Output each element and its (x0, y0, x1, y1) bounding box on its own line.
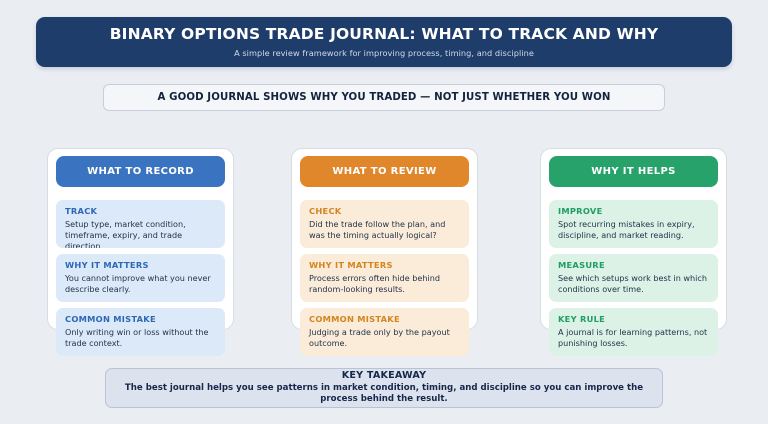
content-block-2-0: IMPROVE Spot recurring mistakes in expir… (549, 200, 718, 248)
columns-region: WHAT TO RECORD TRACK Setup type, market … (0, 148, 768, 348)
page-subtitle: A simple review framework for improving … (234, 48, 534, 58)
subheading-text: A GOOD JOURNAL SHOWS WHY YOU TRADED — NO… (157, 92, 610, 103)
content-block-1-0: CHECK Did the trade follow the plan, and… (300, 200, 469, 248)
block-label-1-2: COMMON MISTAKE (309, 315, 460, 324)
key-takeaway-text: The best journal helps you see patterns … (116, 383, 652, 405)
content-block-2-2: KEY RULE A journal is for learning patte… (549, 308, 718, 356)
infographic-root: BINARY OPTIONS TRADE JOURNAL: WHAT TO TR… (0, 0, 768, 424)
block-text-0-1: You cannot improve what you never descri… (65, 273, 216, 295)
content-block-1-1: WHY IT MATTERS Process errors often hide… (300, 254, 469, 302)
key-takeaway-title: KEY TAKEAWAY (342, 371, 426, 382)
content-block-0-1: WHY IT MATTERS You cannot improve what y… (56, 254, 225, 302)
column-heading-label-1: WHAT TO REVIEW (332, 166, 436, 177)
subheading-bar: A GOOD JOURNAL SHOWS WHY YOU TRADED — NO… (103, 84, 665, 111)
block-label-0-1: WHY IT MATTERS (65, 261, 216, 270)
block-text-1-0: Did the trade follow the plan, and was t… (309, 219, 460, 241)
column-why-it-helps: WHY IT HELPS IMPROVE Spot recurring mist… (540, 148, 727, 356)
page-title: BINARY OPTIONS TRADE JOURNAL: WHAT TO TR… (110, 26, 659, 43)
block-label-0-0: TRACK (65, 207, 216, 216)
column-heading-label-0: WHAT TO RECORD (87, 166, 194, 177)
block-label-1-1: WHY IT MATTERS (309, 261, 460, 270)
block-text-0-2: Only writing win or loss without the tra… (65, 327, 216, 349)
block-text-2-1: See which setups work best in which cond… (558, 273, 709, 295)
column-heading-pill-2: WHY IT HELPS (549, 156, 718, 187)
header-banner: BINARY OPTIONS TRADE JOURNAL: WHAT TO TR… (36, 17, 732, 67)
column-heading-label-2: WHY IT HELPS (591, 166, 675, 177)
content-block-0-0: TRACK Setup type, market condition, time… (56, 200, 225, 248)
block-label-1-0: CHECK (309, 207, 460, 216)
block-text-2-0: Spot recurring mistakes in expiry, disci… (558, 219, 709, 241)
block-label-2-0: IMPROVE (558, 207, 709, 216)
key-takeaway-box: KEY TAKEAWAY The best journal helps you … (105, 368, 663, 408)
content-block-2-1: MEASURE See which setups work best in wh… (549, 254, 718, 302)
block-label-0-2: COMMON MISTAKE (65, 315, 216, 324)
block-text-2-2: A journal is for learning patterns, not … (558, 327, 709, 349)
column-heading-pill-0: WHAT TO RECORD (56, 156, 225, 187)
content-block-0-2: COMMON MISTAKE Only writing win or loss … (56, 308, 225, 356)
column-what-to-record: WHAT TO RECORD TRACK Setup type, market … (47, 148, 234, 356)
block-label-2-2: KEY RULE (558, 315, 709, 324)
block-text-1-1: Process errors often hide behind random-… (309, 273, 460, 295)
column-heading-pill-1: WHAT TO REVIEW (300, 156, 469, 187)
content-block-1-2: COMMON MISTAKE Judging a trade only by t… (300, 308, 469, 356)
block-label-2-1: MEASURE (558, 261, 709, 270)
block-text-0-0: Setup type, market condition, timeframe,… (65, 219, 216, 248)
block-text-1-2: Judging a trade only by the payout outco… (309, 327, 460, 349)
column-what-to-review: WHAT TO REVIEW CHECK Did the trade follo… (291, 148, 478, 356)
